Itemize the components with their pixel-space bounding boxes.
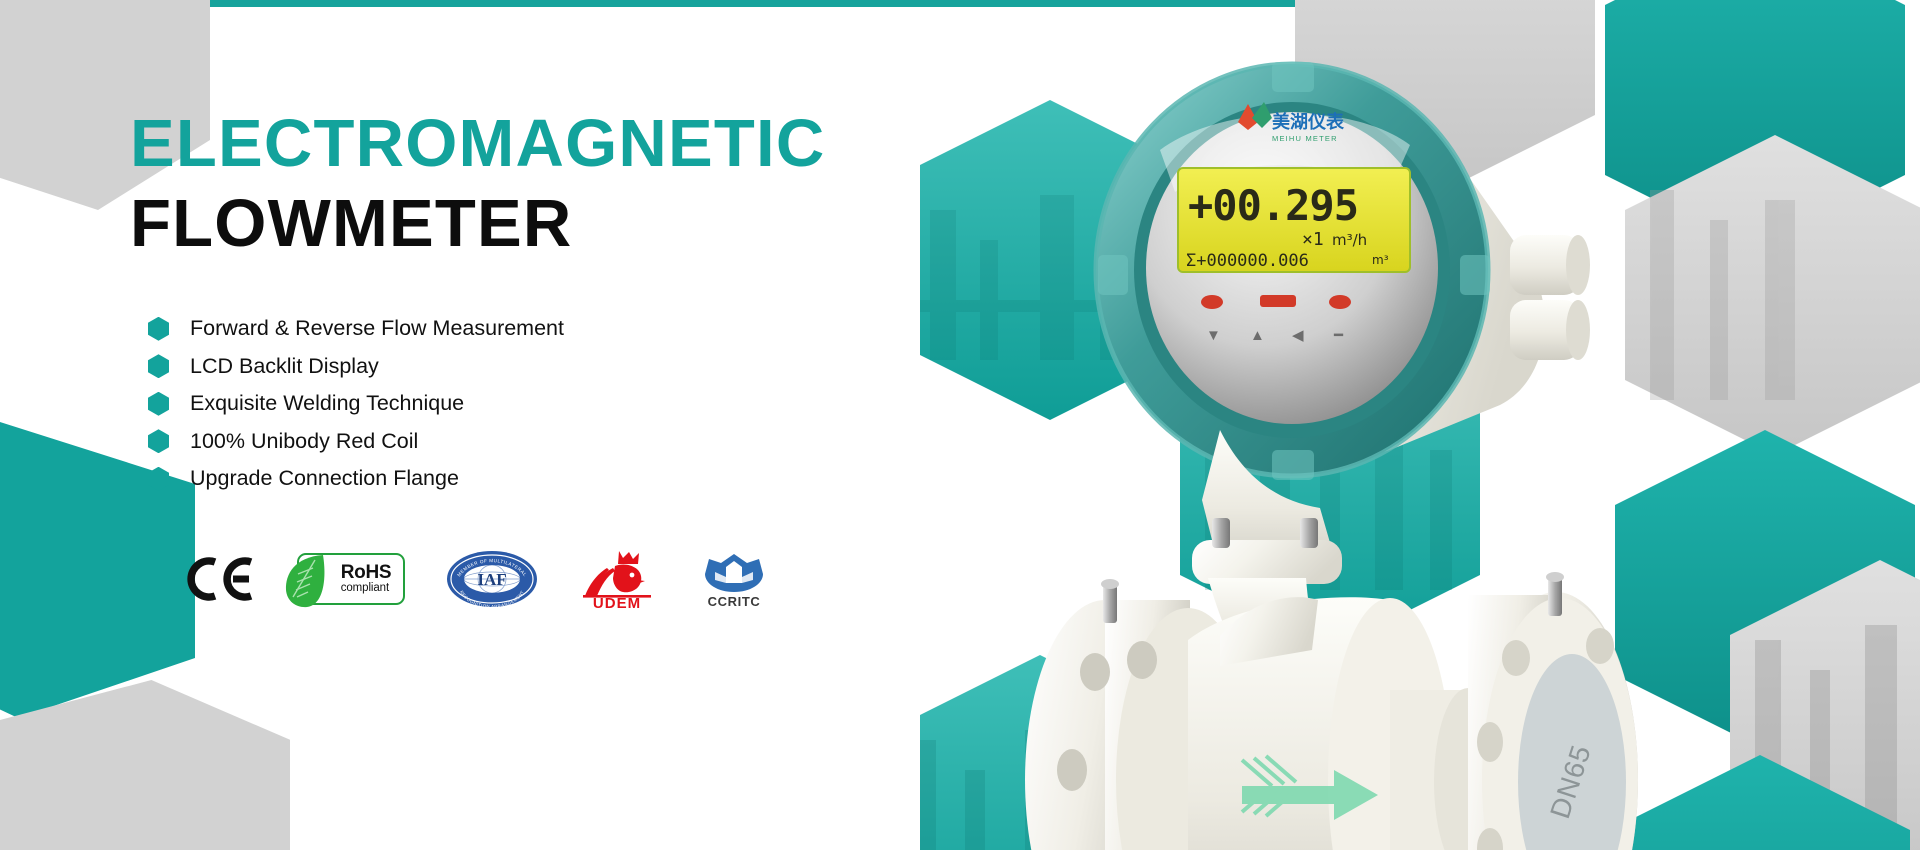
lcd-flow-unit: m³/h (1332, 231, 1367, 249)
svg-text:▲: ▲ (1250, 327, 1265, 344)
svg-text:MEIHU METER: MEIHU METER (1272, 134, 1338, 143)
leaf-icon (283, 552, 327, 610)
ccritc-icon: CCRITC (695, 550, 773, 608)
ce-mark-badge (185, 554, 257, 604)
page-title-primary: ELECTROMAGNETIC (130, 110, 890, 178)
lcd-display: +00.295 ×1 m³/h Σ+000000.006 m³ (1178, 168, 1410, 272)
transmitter-head: 美湖仪表 MEIHU METER +00.295 ×1 m³/h Σ+00000… (1096, 62, 1590, 660)
hexagon-bullet-icon (148, 354, 169, 378)
iaf-badge: IAF MEMBER OF MULTILATERAL RECOGNITION A… (445, 550, 539, 608)
svg-text:━: ━ (1333, 327, 1344, 344)
page-title-secondary: FLOWMETER (130, 190, 890, 258)
hexagon-bullet-icon (148, 317, 169, 341)
rohs-badge: RoHS compliant (297, 553, 405, 605)
rohs-sublabel: compliant (341, 583, 392, 595)
right-ground-stud (1548, 578, 1562, 616)
svg-text:美湖仪表: 美湖仪表 (1272, 111, 1345, 133)
headline-block: ELECTROMAGNETIC FLOWMETER (130, 110, 890, 259)
feature-label: Upgrade Connection Flange (190, 466, 459, 491)
feature-item-1: Forward & Reverse Flow Measurement (148, 310, 564, 348)
lcd-totalizer-unit: m³ (1372, 253, 1389, 267)
lcd-flow-value: +00.295 (1188, 181, 1358, 230)
feature-label: 100% Unibody Red Coil (190, 429, 418, 454)
rohs-text-block: RoHS compliant (341, 563, 392, 595)
left-ground-stud (1103, 585, 1117, 623)
hexagon-bullet-icon (148, 392, 169, 416)
feature-item-2: LCD Backlit Display (148, 348, 564, 386)
rohs-label: RoHS (341, 563, 392, 582)
feature-item-3: Exquisite Welding Technique (148, 385, 564, 423)
product-banner: 美湖仪表 MEIHU METER +00.295 ×1 m³/h Σ+00000… (0, 0, 1920, 850)
certification-row: RoHS compliant IAF (185, 548, 773, 610)
flowmeter-product-image: 美湖仪表 MEIHU METER +00.295 ×1 m³/h Σ+00000… (920, 0, 1920, 850)
iaf-label: IAF (477, 570, 506, 589)
udem-icon: UDEM (579, 548, 655, 610)
ce-mark-icon (185, 554, 257, 604)
lcd-totalizer: Σ+000000.006 (1186, 251, 1309, 271)
hexagon-bullet-icon (148, 467, 169, 491)
ccritc-label: CCRITC (708, 594, 761, 608)
iaf-icon: IAF MEMBER OF MULTILATERAL RECOGNITION A… (445, 550, 539, 608)
feature-label: LCD Backlit Display (190, 354, 379, 379)
flowmeter-svg: 美湖仪表 MEIHU METER +00.295 ×1 m³/h Σ+00000… (920, 0, 1920, 850)
flowmeter-body: DN65 (1025, 572, 1638, 850)
svg-text:▼: ▼ (1206, 327, 1221, 344)
feature-label: Forward & Reverse Flow Measurement (190, 316, 564, 341)
hexagon-bullet-icon (148, 429, 169, 453)
right-flange: DN65 (1468, 572, 1638, 850)
feature-item-5: Upgrade Connection Flange (148, 460, 564, 498)
svg-text:◀: ◀ (1292, 327, 1304, 344)
ccritc-badge: CCRITC (695, 550, 773, 608)
udem-badge: UDEM (579, 548, 655, 610)
feature-item-4: 100% Unibody Red Coil (148, 423, 564, 461)
udem-label: UDEM (593, 595, 641, 610)
feature-list: Forward & Reverse Flow Measurement LCD B… (148, 310, 564, 498)
lcd-multiplier: ×1 (1302, 229, 1324, 250)
feature-label: Exquisite Welding Technique (190, 391, 464, 416)
